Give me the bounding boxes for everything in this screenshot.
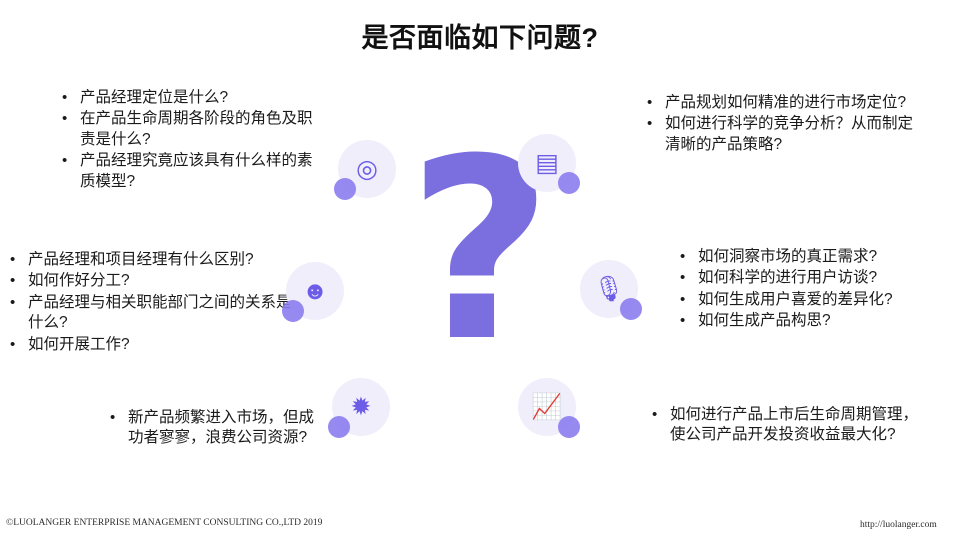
center-graphic: ? ◎ ▤ ☻ 🎙 ✹ 📈 bbox=[290, 120, 670, 460]
bullet-list-top-left: 产品经理定位是什么? 在产品生命周期各阶段的角色及职责是什么? 产品经理究竟应该… bbox=[60, 88, 325, 192]
document-icon-glyph: ▤ bbox=[535, 151, 559, 176]
list-item: 如何洞察市场的真正需求? bbox=[678, 247, 953, 267]
bullet-block-middle-right: 如何洞察市场的真正需求? 如何科学的进行用户访谈? 如何生成用户喜爱的差异化? … bbox=[678, 247, 953, 333]
bullet-block-top-left: 产品经理定位是什么? 在产品生命周期各阶段的角色及职责是什么? 产品经理究竟应该… bbox=[60, 88, 325, 193]
page-title: 是否面临如下问题? bbox=[0, 16, 960, 55]
idea-icon-glyph: ✹ bbox=[351, 395, 372, 420]
list-item: 如何生成用户喜爱的差异化? bbox=[678, 290, 953, 310]
list-item: 产品经理究竟应该具有什么样的素质模型? bbox=[60, 151, 325, 192]
bullet-list-bottom-right: 如何进行产品上市后生命周期管理，使公司产品开发投资收益最大化? bbox=[650, 405, 920, 446]
target-icon-glyph: ◎ bbox=[356, 157, 378, 182]
list-item: 在产品生命周期各阶段的角色及职责是什么? bbox=[60, 109, 325, 150]
user-icon-glyph: ☻ bbox=[302, 279, 328, 304]
microphone-icon: 🎙 bbox=[580, 260, 638, 318]
target-icon: ◎ bbox=[338, 140, 396, 198]
chart-icon: 📈 bbox=[518, 378, 576, 436]
bullet-block-bottom-right: 如何进行产品上市后生命周期管理，使公司产品开发投资收益最大化? bbox=[650, 405, 920, 447]
list-item: 如何作好分工? bbox=[8, 271, 298, 291]
user-icon: ☻ bbox=[286, 262, 344, 320]
list-item: 如何生成产品构思? bbox=[678, 311, 953, 331]
idea-icon: ✹ bbox=[332, 378, 390, 436]
microphone-icon-glyph: 🎙 bbox=[593, 277, 625, 302]
list-item: 如何进行产品上市后生命周期管理，使公司产品开发投资收益最大化? bbox=[650, 405, 920, 446]
list-item: 产品经理和项目经理有什么区别? bbox=[8, 250, 298, 270]
bullet-block-top-right: 产品规划如何精准的进行市场定位? 如何进行科学的竞争分析？从而制定清晰的产品策略… bbox=[645, 93, 920, 156]
footer-copyright: ©LUOLANGER ENTERPRISE MANAGEMENT CONSULT… bbox=[6, 518, 322, 528]
list-item: 产品经理定位是什么? bbox=[60, 88, 325, 108]
footer-url: http://luolanger.com bbox=[860, 520, 952, 532]
chart-icon-glyph: 📈 bbox=[531, 395, 562, 420]
document-icon: ▤ bbox=[518, 134, 576, 192]
bullet-list-top-right: 产品规划如何精准的进行市场定位? 如何进行科学的竞争分析？从而制定清晰的产品策略… bbox=[645, 93, 920, 155]
list-item: 如何开展工作? bbox=[8, 335, 298, 355]
list-item: 如何进行科学的竞争分析？从而制定清晰的产品策略? bbox=[645, 114, 920, 155]
list-item: 产品经理与相关职能部门之间的关系是什么? bbox=[8, 293, 298, 334]
bullet-list-middle-right: 如何洞察市场的真正需求? 如何科学的进行用户访谈? 如何生成用户喜爱的差异化? … bbox=[678, 247, 953, 332]
list-item: 产品规划如何精准的进行市场定位? bbox=[645, 93, 920, 113]
bullet-list-middle-left: 产品经理和项目经理有什么区别? 如何作好分工? 产品经理与相关职能部门之间的关系… bbox=[8, 250, 298, 355]
bullet-block-middle-left: 产品经理和项目经理有什么区别? 如何作好分工? 产品经理与相关职能部门之间的关系… bbox=[8, 250, 298, 356]
list-item: 如何科学的进行用户访谈? bbox=[678, 268, 953, 288]
slide: 是否面临如下问题? 产品经理定位是什么? 在产品生命周期各阶段的角色及职责是什么… bbox=[0, 0, 960, 540]
